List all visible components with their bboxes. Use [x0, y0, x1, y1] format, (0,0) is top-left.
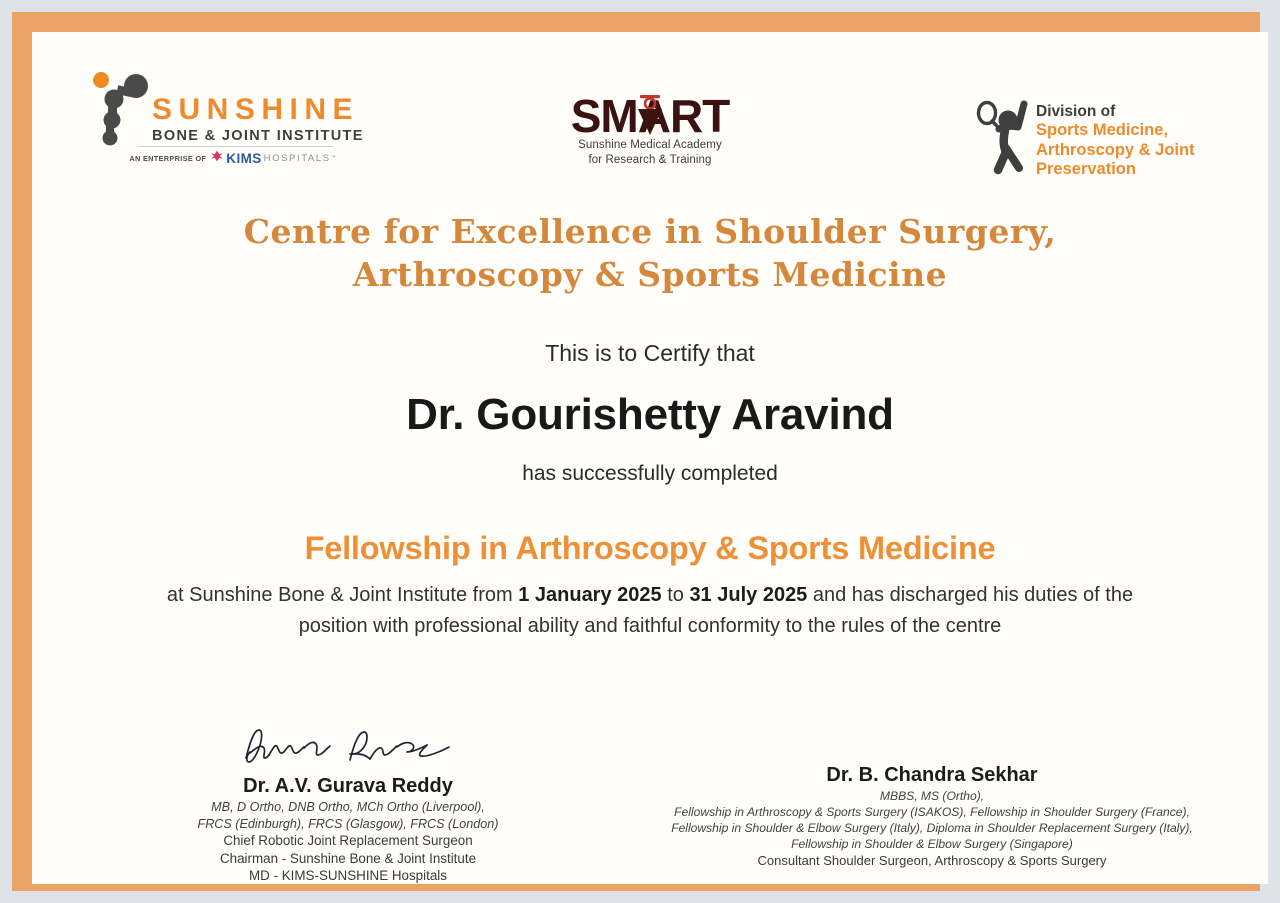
kims-trademark: ™	[331, 155, 336, 161]
smart-logo: SMART Sunshine Medical Academy for Resea…	[532, 94, 768, 180]
signatory-role-line: Consultant Shoulder Surgeon, Arthroscopy…	[632, 852, 1232, 869]
centre-heading-line1: Centre for Excellence in Shoulder Surger…	[32, 210, 1268, 253]
signatory-credential-line: FRCS (Edinburgh), FRCS (Glasgow), FRCS (…	[68, 816, 628, 833]
signatory-credential-line: Fellowship in Shoulder & Elbow Surgery (…	[632, 820, 1232, 836]
recipient-name: Dr. Gourishetty Aravind	[32, 390, 1268, 440]
signatory-name: Dr. A.V. Gurava Reddy	[68, 773, 628, 799]
start-date: 1 January 2025	[518, 584, 661, 606]
sunshine-wordmark: SUNSHINE BONE & JOINT INSTITUTE	[152, 94, 364, 145]
sunshine-molecule-icon	[90, 70, 148, 148]
signatory-credential-line: MBBS, MS (Ortho),	[632, 788, 1232, 804]
end-date: 31 July 2025	[689, 584, 807, 606]
certificate-border: SUNSHINE BONE & JOINT INSTITUTE AN ENTER…	[12, 12, 1260, 891]
sunshine-bone-joint-institute-logo: SUNSHINE BONE & JOINT INSTITUTE AN ENTER…	[90, 68, 335, 178]
signatory-name: Dr. B. Chandra Sekhar	[632, 762, 1232, 788]
signatory-role-line: MD - KIMS-SUNSHINE Hospitals	[68, 867, 628, 884]
award-title: Fellowship in Arthroscopy & Sports Medic…	[32, 530, 1268, 567]
division-line1: Division of	[1036, 102, 1195, 121]
centre-heading-line2: Arthroscopy & Sports Medicine	[32, 253, 1268, 296]
division-line3: Arthroscopy & Joint	[1036, 141, 1195, 161]
tennis-player-icon	[972, 94, 1034, 178]
smart-wordmark: SMART	[532, 94, 768, 138]
kims-figure-icon	[210, 149, 224, 168]
kims-brand: KIMS	[226, 151, 261, 166]
handwritten-signature-icon	[228, 722, 468, 770]
award-detail-paragraph: at Sunshine Bone & Joint Institute from …	[142, 580, 1158, 642]
centre-heading: Centre for Excellence in Shoulder Surger…	[32, 210, 1268, 296]
smart-text: SMART	[571, 90, 730, 142]
logo-header-row: SUNSHINE BONE & JOINT INSTITUTE AN ENTER…	[32, 32, 1268, 177]
detail-prefix: at Sunshine Bone & Joint Institute from	[167, 584, 518, 606]
signatory-credential-line: MB, D Ortho, DNB Ortho, MCh Ortho (Liver…	[68, 799, 628, 816]
division-sports-medicine-logo: Division of Sports Medicine, Arthroscopy…	[972, 94, 1232, 182]
signature-block-right: Dr. B. Chandra Sekhar MBBS, MS (Ortho), …	[632, 762, 1232, 869]
kims-prefix: AN ENTERPRISE OF	[129, 154, 206, 163]
sunshine-divider	[138, 146, 333, 147]
sunshine-title: SUNSHINE	[152, 94, 364, 126]
division-text-block: Division of Sports Medicine, Arthroscopy…	[1036, 102, 1195, 180]
kims-enterprise-line: AN ENTERPRISE OF KIMS HOSPITALS ™	[130, 150, 335, 166]
signature-block-left: Dr. A.V. Gurava Reddy MB, D Ortho, DNB O…	[68, 722, 628, 884]
signatory-credential-line: Fellowship in Shoulder & Elbow Surgery (…	[632, 836, 1232, 852]
signatory-credential-line: Fellowship in Arthroscopy & Sports Surge…	[632, 804, 1232, 820]
signatory-role-line: Chairman - Sunshine Bone & Joint Institu…	[68, 850, 628, 868]
sunshine-subtitle: BONE & JOINT INSTITUTE	[152, 127, 364, 145]
completion-statement: has successfully completed	[32, 462, 1268, 486]
kims-brand-suffix: HOSPITALS	[264, 153, 331, 164]
division-line2: Sports Medicine,	[1036, 121, 1195, 141]
signatory-role-line: Chief Robotic Joint Replacement Surgeon	[68, 832, 628, 850]
smart-subtitle-line2: for Research & Training	[532, 153, 768, 168]
division-line4: Preservation	[1036, 160, 1195, 180]
certify-statement: This is to Certify that	[32, 340, 1268, 367]
certificate-page: SUNSHINE BONE & JOINT INSTITUTE AN ENTER…	[32, 32, 1268, 884]
detail-middle: to	[662, 584, 690, 606]
